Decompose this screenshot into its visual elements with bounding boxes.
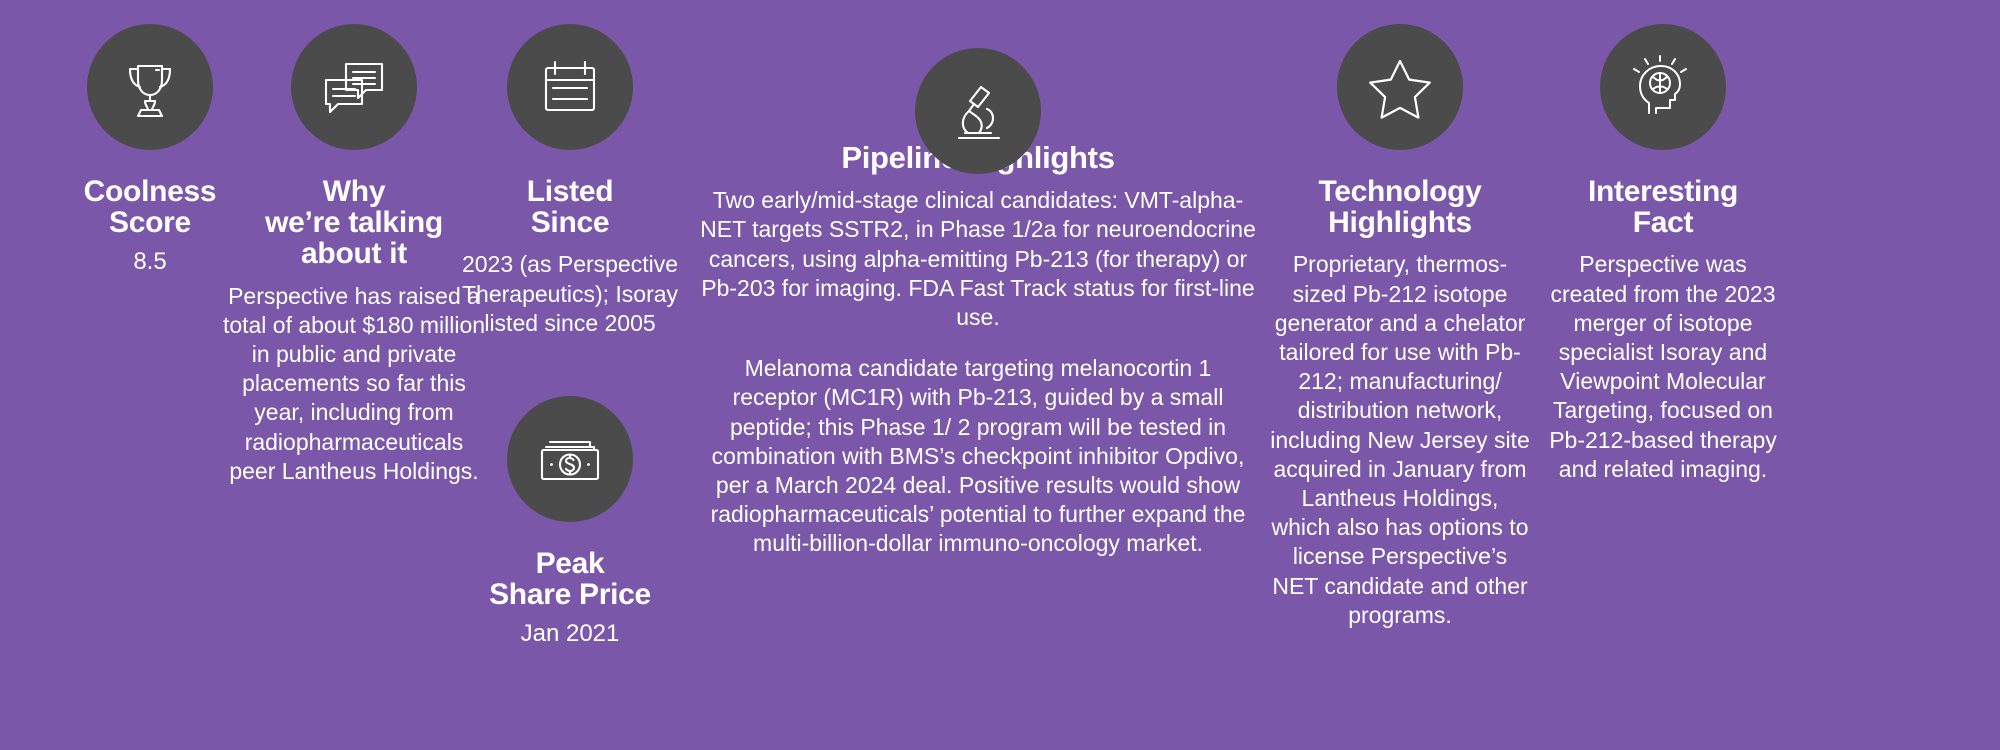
speech-bubbles-icon bbox=[291, 24, 417, 150]
column-interesting-fact: Interesting Fact Perspective was created… bbox=[1540, 0, 1786, 484]
heading-line: Listed bbox=[527, 176, 614, 207]
calendar-icon bbox=[507, 24, 633, 150]
column-paragraph: Melanoma candidate targeting melanocorti… bbox=[700, 354, 1256, 558]
column-heading: Why we’re talking about it bbox=[265, 176, 443, 270]
column-technology-highlights: Technology Highlights Proprietary, therm… bbox=[1270, 0, 1530, 630]
heading-line: Highlights bbox=[1318, 207, 1481, 238]
column-pipeline-highlights: Pipeline Highlights Two early/mid-stage … bbox=[700, 0, 1256, 559]
heading-line: Coolness bbox=[84, 176, 217, 207]
column-heading: Technology Highlights bbox=[1318, 176, 1481, 238]
column-paragraph: Two early/mid-stage clinical candidates:… bbox=[700, 186, 1256, 332]
heading-line: Interesting bbox=[1588, 176, 1738, 207]
money-icon bbox=[507, 396, 633, 522]
heading-line: Why bbox=[265, 176, 443, 207]
heading-line: Share Price bbox=[489, 579, 651, 610]
column-paragraph: 2023 (as Perspective Therapeutics); Isor… bbox=[446, 250, 694, 338]
heading-line: Peak bbox=[489, 548, 651, 579]
heading-line: we’re talking bbox=[265, 207, 443, 238]
column-paragraph: Perspective was created from the 2023 me… bbox=[1540, 250, 1786, 484]
column-paragraph: Proprietary, thermos-sized Pb-212 isotop… bbox=[1270, 250, 1530, 630]
peak-share-price-heading: Peak Share Price bbox=[489, 548, 651, 610]
column-heading: Coolness Score bbox=[84, 176, 217, 238]
heading-line: about it bbox=[265, 238, 443, 269]
heading-line: Since bbox=[527, 207, 614, 238]
peak-share-price-value: Jan 2021 bbox=[521, 620, 620, 648]
trophy-icon bbox=[87, 24, 213, 150]
microscope-icon bbox=[915, 48, 1041, 174]
peak-share-price-block: Peak Share Price Jan 2021 bbox=[489, 372, 651, 648]
heading-line: Technology bbox=[1318, 176, 1481, 207]
column-listed-since: Listed Since 2023 (as Perspective Therap… bbox=[446, 0, 694, 648]
coolness-score-value: 8.5 bbox=[133, 248, 166, 276]
star-icon bbox=[1337, 24, 1463, 150]
brain-head-icon bbox=[1600, 24, 1726, 150]
heading-line: Fact bbox=[1588, 207, 1738, 238]
infographic-board: Coolness Score 8.5 Why we’re talking abo… bbox=[0, 0, 2000, 750]
heading-line: Score bbox=[84, 207, 217, 238]
column-heading: Interesting Fact bbox=[1588, 176, 1738, 238]
column-heading: Listed Since bbox=[527, 176, 614, 238]
